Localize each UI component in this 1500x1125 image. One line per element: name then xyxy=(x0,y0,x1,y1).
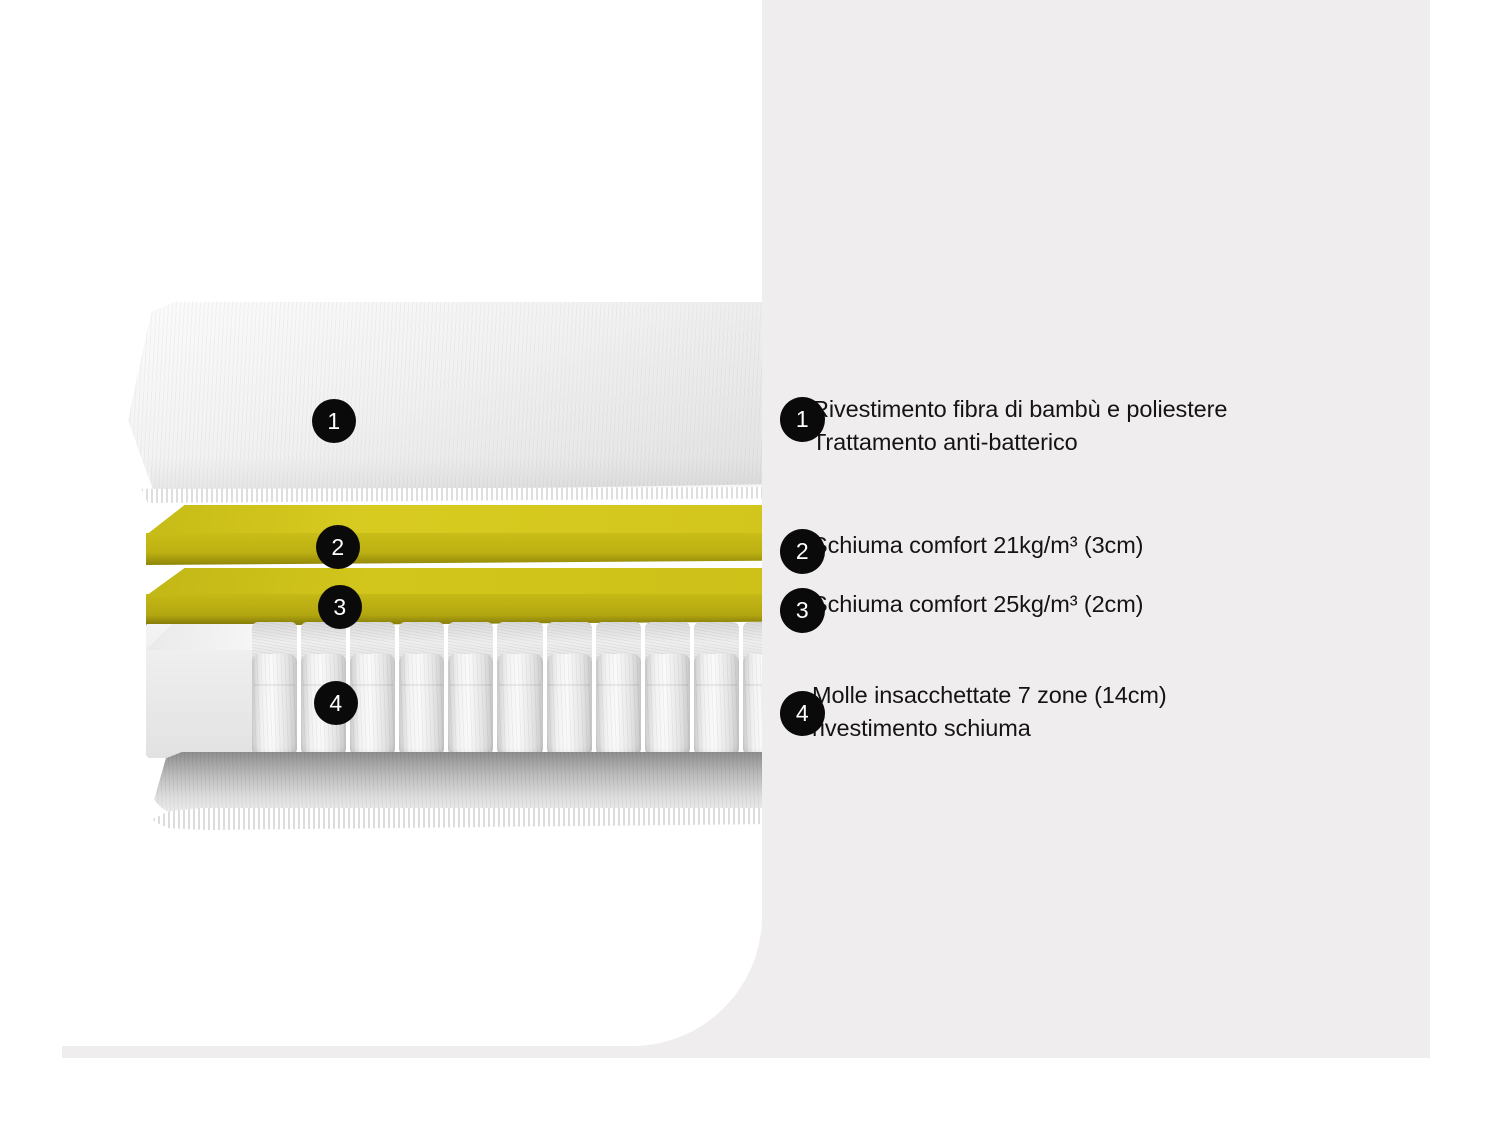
spring-body xyxy=(694,654,739,758)
artwork-badge-2: 2 xyxy=(316,525,360,569)
artwork-badge-1: 1 xyxy=(312,399,356,443)
pocket-spring xyxy=(350,622,395,758)
legend-item-1: 1 Rivestimento fibra di bambù e polieste… xyxy=(780,393,1227,459)
spring-seam xyxy=(745,684,762,686)
pocket-spring xyxy=(645,622,690,758)
spring-body xyxy=(596,654,641,758)
legend-item-4: 4 Molle insacchettate 7 zone (14cm) rive… xyxy=(780,679,1167,745)
legend-text-4: Molle insacchettate 7 zone (14cm) rivest… xyxy=(812,679,1167,745)
pocket-spring xyxy=(399,622,444,758)
pocket-spring xyxy=(547,622,592,758)
legend-list: 1 Rivestimento fibra di bambù e polieste… xyxy=(778,0,1478,1125)
cover-piping-trim xyxy=(128,487,762,503)
mattress-base-layer xyxy=(150,752,762,840)
pocket-spring xyxy=(743,622,762,758)
spring-body xyxy=(547,654,592,758)
legend-item-3: 3 Schiuma comfort 25kg/m³ (2cm) xyxy=(780,588,1143,621)
foam2-top-face xyxy=(146,505,762,535)
spring-body xyxy=(497,654,542,758)
artwork-badge-4: 4 xyxy=(314,681,358,725)
pocket-spring xyxy=(448,622,493,758)
mattress-cover-layer xyxy=(128,300,762,500)
comfort-foam-3cm-layer xyxy=(146,505,762,565)
pocket-spring xyxy=(596,622,641,758)
pocket-spring xyxy=(252,622,297,758)
foam2-front-face xyxy=(146,533,762,565)
spring-body xyxy=(743,654,762,758)
pocket-spring xyxy=(694,622,739,758)
legend-badge-3: 3 xyxy=(780,588,825,633)
legend-item-2: 2 Schiuma comfort 21kg/m³ (3cm) xyxy=(780,529,1143,562)
legend-badge-1: 1 xyxy=(780,397,825,442)
comfort-foam-2cm-layer xyxy=(146,568,762,626)
spring-seam xyxy=(254,684,296,686)
base-piping-trim xyxy=(150,808,762,830)
legend-text-3: Schiuma comfort 25kg/m³ (2cm) xyxy=(812,588,1143,621)
legend-text-2: Schiuma comfort 21kg/m³ (3cm) xyxy=(812,529,1143,562)
spring-seam xyxy=(597,684,639,686)
spring-body xyxy=(399,654,444,758)
mattress-layers-infographic: 1 2 3 4 1 Rivestimento fibra di bambù e … xyxy=(0,0,1500,1125)
spring-seam xyxy=(401,684,443,686)
legend-badge-4: 4 xyxy=(780,691,825,736)
spring-seam xyxy=(548,684,590,686)
base-top-face xyxy=(150,752,762,814)
pocket-spring-layer xyxy=(146,622,762,760)
spring-seam xyxy=(499,684,541,686)
spring-seam xyxy=(450,684,492,686)
mattress-illustration: 1 2 3 4 xyxy=(0,0,762,1125)
spring-body xyxy=(448,654,493,758)
spring-body xyxy=(645,654,690,758)
artwork-badge-3: 3 xyxy=(318,585,362,629)
pocket-spring xyxy=(497,622,542,758)
spring-seam xyxy=(352,684,394,686)
legend-badge-2: 2 xyxy=(780,529,825,574)
foam-edge-rail xyxy=(146,624,264,758)
foam3-top-face xyxy=(146,568,762,596)
spring-seam xyxy=(647,684,689,686)
spring-body xyxy=(252,654,297,758)
spring-seam xyxy=(696,684,738,686)
legend-text-1: Rivestimento fibra di bambù e poliestere… xyxy=(812,393,1227,459)
